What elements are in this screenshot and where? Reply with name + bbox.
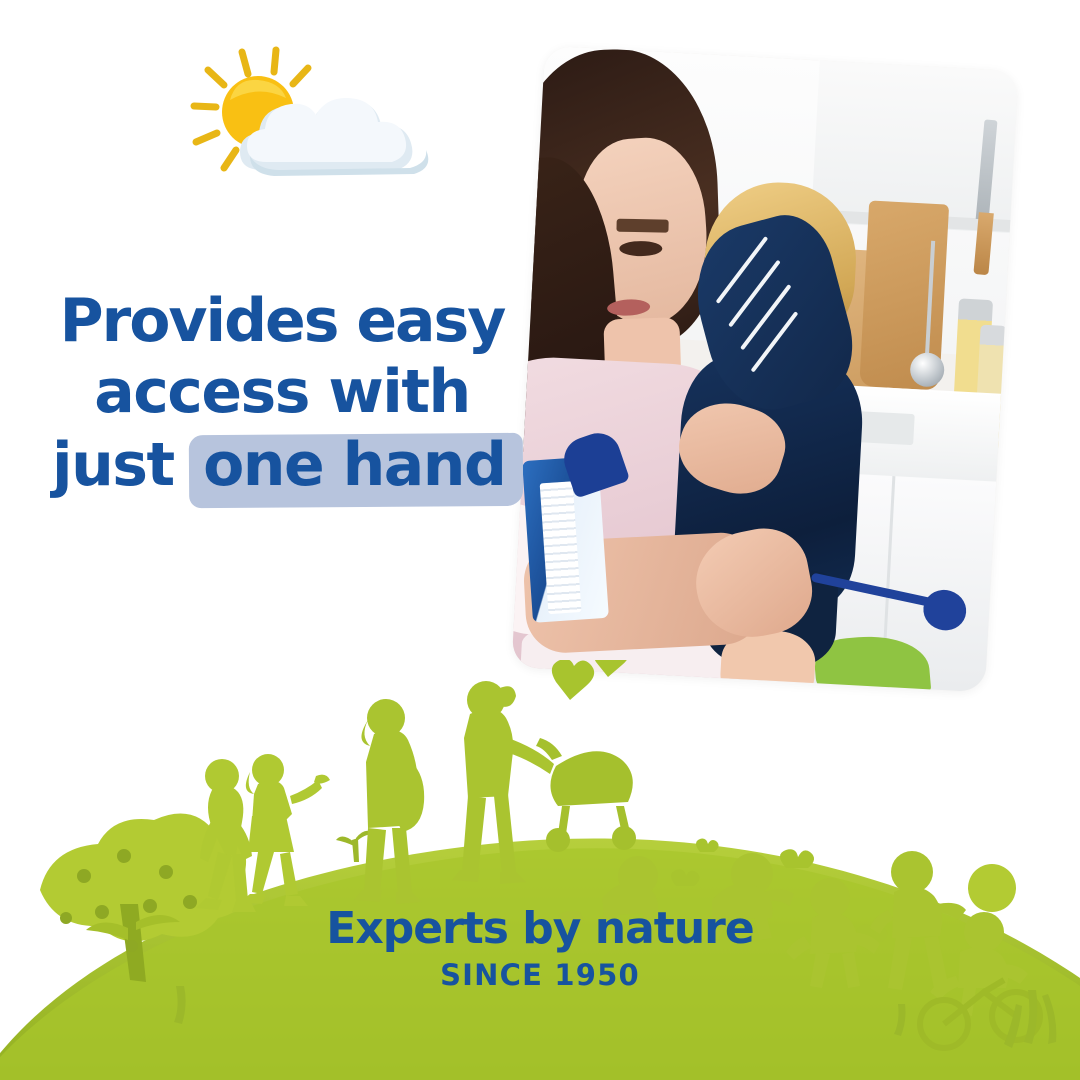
sun-behind-cloud-icon xyxy=(170,38,460,198)
experts-by-nature-illustration xyxy=(0,660,1080,1080)
headline-line-3-prefix: just xyxy=(52,430,193,500)
hero-photo xyxy=(512,46,1019,693)
stroller-icon xyxy=(536,738,636,852)
headline-line-3: just one hand xyxy=(52,430,512,501)
brand-tagline: Experts by nature xyxy=(0,906,1080,952)
ad-canvas: Provides easy access with just one hand xyxy=(0,0,1080,1080)
brand-since: SINCE 1950 xyxy=(0,958,1080,992)
hero-photo-frame xyxy=(512,46,1019,693)
headline-line-2: access with xyxy=(52,357,512,428)
ball-icon xyxy=(968,864,1016,912)
hearts-icon xyxy=(552,660,629,700)
headline-highlight: one hand xyxy=(193,430,515,501)
headline-line-1: Provides easy xyxy=(52,286,512,357)
mother-eyebrow xyxy=(616,219,668,233)
headline: Provides easy access with just one hand xyxy=(52,286,512,500)
brand-footer: Experts by nature SINCE 1950 xyxy=(0,906,1080,992)
